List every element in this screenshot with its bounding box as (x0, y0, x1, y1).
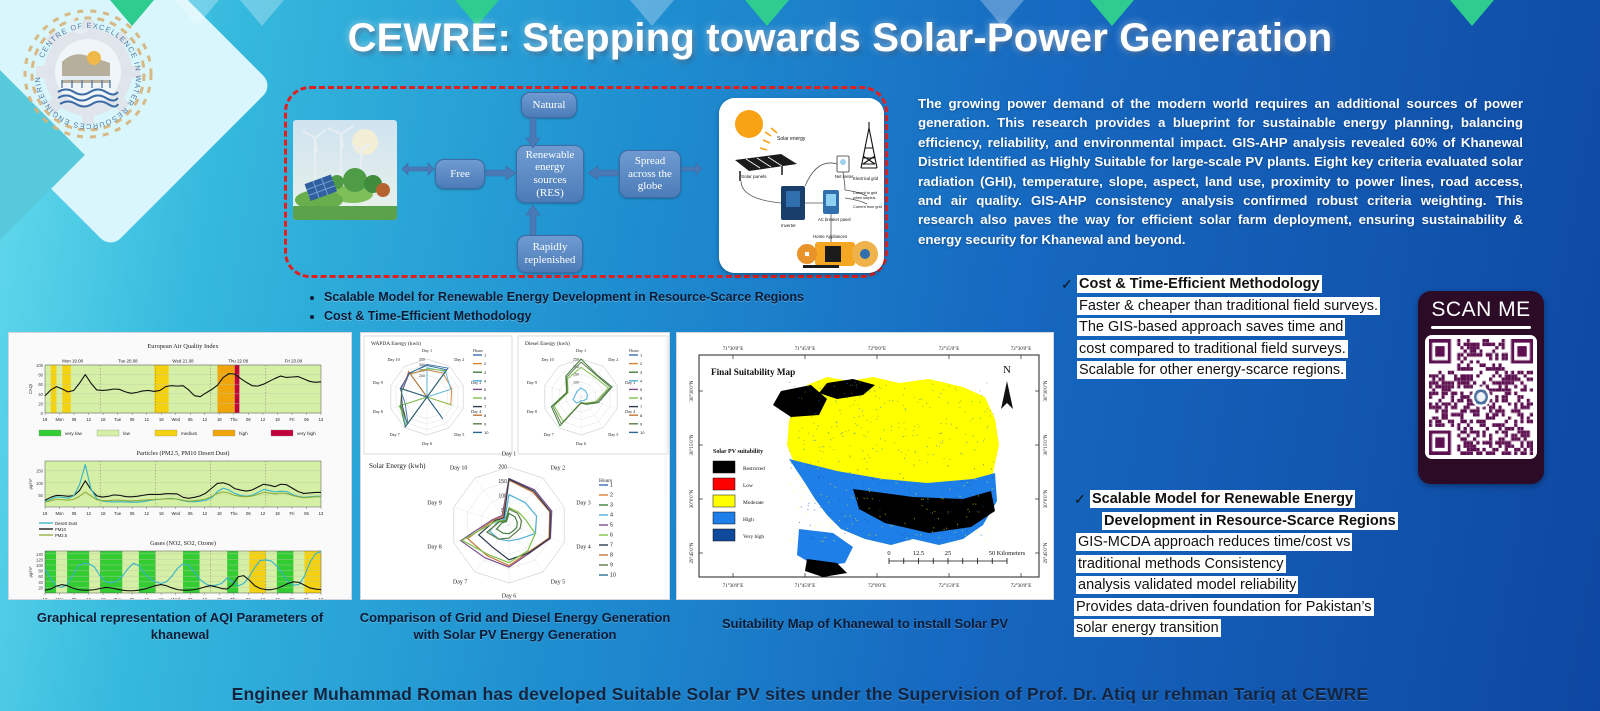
svg-text:when surplus: when surplus (853, 196, 875, 200)
svg-text:Wed: Wed (171, 511, 180, 516)
svg-text:60: 60 (38, 574, 43, 579)
svg-text:10: 10 (610, 573, 616, 579)
svg-text:200: 200 (498, 465, 507, 471)
svg-text:Day 2: Day 2 (608, 357, 618, 362)
svg-text:12: 12 (261, 597, 266, 600)
svg-text:72°15'0"E: 72°15'0"E (939, 584, 960, 589)
callout-line: Faster & cheaper than traditional field … (1077, 297, 1380, 315)
svg-text:Thu: Thu (230, 597, 238, 600)
callout-cost-time: ✓ Cost & Time-Efficient Methodology Fast… (1077, 274, 1422, 382)
svg-text:140: 140 (36, 552, 44, 557)
svg-text:18: 18 (101, 417, 106, 422)
svg-text:72°30'0"E: 72°30'0"E (1011, 584, 1032, 589)
map-svg: Final Suitability Map71°30'0"E71°30'0"E7… (677, 333, 1054, 600)
panel-energy: WAPDA Energy (kwh)200250300350Day 1Day 2… (360, 332, 670, 600)
svg-text:Wed: Wed (171, 597, 180, 600)
svg-text:Hours: Hours (629, 348, 639, 353)
svg-text:06: 06 (304, 597, 309, 600)
svg-text:2: 2 (610, 493, 613, 499)
svg-text:low: low (123, 431, 131, 436)
svg-text:12: 12 (202, 597, 207, 600)
svg-text:Mon: Mon (55, 597, 64, 600)
svg-text:N: N (1003, 364, 1011, 376)
svg-text:Day 8: Day 8 (373, 409, 383, 414)
svg-text:06: 06 (130, 417, 135, 422)
svg-text:Very high: Very high (743, 534, 764, 540)
svg-text:12.5: 12.5 (913, 550, 924, 557)
svg-text:Fri: Fri (290, 417, 295, 422)
svg-text:AC breaker panel: AC breaker panel (818, 217, 851, 222)
svg-text:0: 0 (887, 550, 890, 557)
svg-text:72°30'0"E: 72°30'0"E (1011, 347, 1032, 352)
svg-text:12: 12 (319, 511, 324, 516)
svg-text:30°0'0"N: 30°0'0"N (1044, 489, 1049, 508)
svg-text:µg/m³: µg/m³ (28, 566, 33, 577)
callout-line: Scalable for other energy-scarce regions… (1077, 361, 1346, 379)
svg-text:Electrical grid: Electrical grid (853, 176, 879, 181)
svg-text:18: 18 (217, 417, 222, 422)
callout-line: cost compared to traditional field surve… (1077, 340, 1348, 358)
svg-text:12: 12 (144, 417, 149, 422)
svg-text:Day 5: Day 5 (454, 432, 464, 437)
chevron-decor-2 (175, 0, 219, 26)
svg-text:Day 10: Day 10 (450, 465, 468, 471)
svg-text:3: 3 (610, 503, 613, 509)
svg-text:Current from grid: Current from grid (853, 205, 882, 209)
cewre-logo: CENTRE OF EXCELLENCE IN WATER RESOURCES … (18, 6, 158, 146)
svg-text:Tue: Tue (114, 417, 122, 422)
svg-text:06: 06 (72, 511, 77, 516)
caption-energy: Comparison of Grid and Diesel Energy Gen… (358, 610, 672, 644)
svg-text:Wed 21.08: Wed 21.08 (172, 359, 194, 364)
svg-text:71°45'0"E: 71°45'0"E (795, 347, 816, 352)
svg-text:Thu: Thu (230, 511, 238, 516)
svg-text:06: 06 (246, 417, 251, 422)
callout-line: analysis validated model reliability (1076, 576, 1298, 594)
svg-text:Gases (NO2, SO2, Ozone): Gases (NO2, SO2, Ozone) (150, 540, 216, 547)
svg-text:4: 4 (610, 513, 613, 519)
svg-text:Solar PV suitability: Solar PV suitability (713, 449, 763, 455)
svg-text:12: 12 (144, 511, 149, 516)
svg-text:80: 80 (38, 569, 43, 574)
svg-text:Tue: Tue (114, 511, 122, 516)
callout-heading: Scalable Model for Renewable Energy (1090, 490, 1355, 508)
svg-text:PM2.5: PM2.5 (55, 533, 68, 538)
svg-text:12: 12 (319, 597, 324, 600)
svg-text:Day 1: Day 1 (502, 452, 517, 458)
svg-text:12: 12 (144, 597, 149, 600)
svg-text:20: 20 (38, 585, 43, 590)
svg-text:Day 6: Day 6 (422, 441, 432, 446)
svg-text:very low: very low (65, 431, 83, 436)
svg-text:06: 06 (188, 511, 193, 516)
svg-text:18: 18 (43, 511, 48, 516)
svg-text:8: 8 (610, 553, 613, 559)
svg-text:12: 12 (202, 417, 207, 422)
callout-scalable-model: ✓ Scalable Model for Renewable Energy De… (1090, 489, 1450, 640)
svg-text:20: 20 (38, 401, 43, 406)
caption-text: Graphical representation of AQI Paramete… (37, 610, 323, 642)
svg-text:50: 50 (38, 493, 43, 498)
svg-text:very high: very high (297, 431, 316, 436)
svg-text:WAPDA Energy (kwh): WAPDA Energy (kwh) (371, 340, 421, 347)
svg-text:1: 1 (610, 483, 613, 489)
svg-text:Day 4: Day 4 (625, 409, 636, 414)
callout-line: The GIS-based approach saves time and (1077, 318, 1345, 336)
svg-text:Solar Energy (kwh): Solar Energy (kwh) (369, 462, 426, 470)
svg-text:06: 06 (72, 417, 77, 422)
svg-text:150: 150 (36, 469, 44, 474)
svg-text:12: 12 (86, 511, 91, 516)
svg-text:Fri: Fri (290, 511, 295, 516)
svg-text:Home Appliances: Home Appliances (813, 234, 848, 239)
scan-me-label: SCAN ME (1425, 298, 1537, 322)
abstract-text: The growing power demand of the modern w… (918, 94, 1523, 249)
svg-text:06: 06 (72, 597, 77, 600)
svg-text:medium: medium (181, 431, 198, 436)
svg-text:Day 1: Day 1 (422, 348, 432, 353)
svg-text:100: 100 (36, 363, 44, 368)
svg-text:Fri: Fri (290, 597, 295, 600)
svg-text:12: 12 (86, 597, 91, 600)
svg-text:Final Suitability Map: Final Suitability Map (711, 367, 795, 377)
svg-text:25: 25 (945, 550, 951, 557)
svg-text:Day 4: Day 4 (471, 409, 482, 414)
svg-text:Desert Dust: Desert Dust (55, 521, 78, 526)
svg-text:Wed: Wed (171, 417, 180, 422)
svg-text:18: 18 (159, 511, 164, 516)
svg-text:06: 06 (304, 511, 309, 516)
svg-text:High: High (743, 517, 754, 523)
svg-text:29°45'0"N: 29°45'0"N (1044, 542, 1049, 563)
svg-text:30°30'0"N: 30°30'0"N (1044, 380, 1049, 401)
svg-text:Tue: Tue (114, 597, 122, 600)
svg-text:Day 7: Day 7 (544, 432, 554, 437)
svg-text:200: 200 (419, 374, 425, 378)
svg-text:12: 12 (202, 511, 207, 516)
callout-line: Provides data-driven foundation for Paki… (1074, 598, 1374, 616)
svg-text:06: 06 (246, 511, 251, 516)
svg-text:30°15'0"N: 30°15'0"N (1044, 434, 1049, 455)
caption-text: Suitability Map of Khanewal to install S… (722, 616, 1008, 631)
svg-text:06: 06 (188, 597, 193, 600)
svg-text:150: 150 (498, 479, 507, 485)
svg-text:40: 40 (38, 392, 43, 397)
svg-text:Day 6: Day 6 (502, 593, 517, 599)
svg-text:18: 18 (275, 597, 280, 600)
svg-text:100: 100 (573, 380, 579, 384)
svg-text:06: 06 (246, 597, 251, 600)
svg-text:Solar energy: Solar energy (777, 136, 806, 142)
svg-text:18: 18 (275, 417, 280, 422)
svg-text:18: 18 (43, 597, 48, 600)
svg-text:12: 12 (261, 511, 266, 516)
svg-text:Day 2: Day 2 (551, 465, 566, 471)
svg-text:Mon: Mon (55, 417, 64, 422)
svg-text:Day 3: Day 3 (576, 501, 591, 507)
svg-text:Day 8: Day 8 (527, 409, 537, 414)
svg-text:71°30'0"E: 71°30'0"E (723, 347, 744, 352)
divider (1431, 326, 1531, 329)
svg-text:Solar panels: Solar panels (741, 174, 767, 179)
svg-text:18: 18 (217, 597, 222, 600)
callout-line: GIS-MCDA approach reduces time/cost vs (1076, 533, 1352, 551)
svg-text:Hours: Hours (473, 348, 483, 353)
caption-map: Suitability Map of Khanewal to install S… (676, 616, 1054, 633)
svg-text:50 Kilometers: 50 Kilometers (989, 550, 1026, 557)
svg-text:Current to grid: Current to grid (853, 191, 877, 195)
panel-map: Final Suitability Map71°30'0"E71°30'0"E7… (676, 332, 1054, 600)
svg-text:Day 9: Day 9 (527, 380, 537, 385)
svg-text:Moderate: Moderate (743, 500, 764, 506)
svg-text:Mon: Mon (55, 511, 64, 516)
callout-heading: Development in Resource-Scarce Regions (1102, 512, 1398, 530)
svg-text:30°0'0"N: 30°0'0"N (690, 489, 695, 508)
svg-text:Inverter: Inverter (781, 223, 796, 228)
svg-text:Day 2: Day 2 (454, 357, 464, 362)
panel-aqi: European Air Quality Index020406080100CA… (8, 332, 352, 600)
svg-text:80: 80 (38, 373, 43, 378)
svg-text:Fri 23.08: Fri 23.08 (285, 359, 303, 364)
svg-text:12: 12 (86, 417, 91, 422)
energy-charts-svg: WAPDA Energy (kwh)200250300350Day 1Day 2… (361, 333, 670, 600)
svg-text:5: 5 (610, 523, 613, 529)
svg-text:Thu 22.08: Thu 22.08 (228, 359, 248, 364)
svg-text:29°45'0"N: 29°45'0"N (690, 542, 695, 563)
svg-text:18: 18 (275, 511, 280, 516)
svg-text:06: 06 (304, 417, 309, 422)
svg-text:71°30'0"E: 71°30'0"E (723, 584, 744, 589)
svg-text:µg/m³: µg/m³ (28, 478, 33, 489)
svg-text:30°15'0"N: 30°15'0"N (690, 434, 695, 455)
qr-code[interactable] (1425, 335, 1537, 459)
svg-text:Day 10: Day 10 (388, 357, 400, 362)
svg-text:Day 10: Day 10 (542, 357, 554, 362)
scan-me-card[interactable]: SCAN ME (1418, 291, 1544, 484)
svg-text:72°0'0"E: 72°0'0"E (868, 347, 886, 352)
chevron-decor-9 (1450, 0, 1494, 26)
svg-text:60: 60 (38, 382, 43, 387)
list-item: Cost & Time-Efficient Methodology (324, 307, 912, 326)
svg-text:350: 350 (419, 358, 425, 362)
callout-line: traditional methods Consistency (1076, 555, 1286, 573)
svg-text:Day 8: Day 8 (427, 544, 442, 550)
callout-heading: Cost & Time-Efficient Methodology (1077, 275, 1322, 293)
svg-text:Particles (PM2.5, PM10 Desert: Particles (PM2.5, PM10 Desert Dust) (137, 450, 230, 457)
svg-text:CAQI: CAQI (28, 384, 33, 394)
aqi-charts-svg: European Air Quality Index020406080100CA… (9, 333, 352, 600)
svg-text:Day 9: Day 9 (373, 380, 383, 385)
svg-text:30°30'0"N: 30°30'0"N (690, 380, 695, 401)
svg-text:06: 06 (188, 417, 193, 422)
svg-text:Net meter: Net meter (835, 174, 854, 179)
key-points-list: Scalable Model for Renewable Energy Deve… (312, 288, 912, 326)
svg-text:06: 06 (130, 597, 135, 600)
svg-text:Day 5: Day 5 (551, 580, 566, 586)
svg-text:18: 18 (159, 597, 164, 600)
footer-banner: Engineer Muhammad Roman has developed Su… (0, 684, 1600, 705)
svg-text:71°45'0"E: 71°45'0"E (795, 584, 816, 589)
svg-text:Day 7: Day 7 (453, 580, 468, 586)
svg-text:Low: Low (743, 483, 753, 489)
svg-text:100: 100 (36, 563, 44, 568)
svg-text:10: 10 (484, 430, 489, 435)
svg-text:Diesel Energy (kwh): Diesel Energy (kwh) (525, 340, 570, 347)
svg-text:Day 7: Day 7 (390, 432, 400, 437)
svg-text:18: 18 (101, 597, 106, 600)
svg-text:120: 120 (36, 557, 44, 562)
svg-text:Day 4: Day 4 (576, 544, 591, 550)
svg-text:40: 40 (38, 580, 43, 585)
list-item: Scalable Model for Renewable Energy Deve… (324, 288, 912, 307)
check-icon: ✓ (1061, 275, 1073, 295)
svg-text:PM10: PM10 (55, 527, 67, 532)
svg-text:12: 12 (261, 417, 266, 422)
svg-text:72°15'0"E: 72°15'0"E (939, 347, 960, 352)
svg-text:06: 06 (130, 511, 135, 516)
check-icon: ✓ (1074, 490, 1086, 510)
svg-text:7: 7 (610, 543, 613, 549)
svg-text:6: 6 (610, 533, 613, 539)
svg-text:Day 9: Day 9 (427, 501, 442, 507)
svg-text:Mon 19.08: Mon 19.08 (62, 359, 83, 364)
svg-text:European Air Quality Index: European Air Quality Index (147, 343, 219, 350)
svg-text:Restricted: Restricted (743, 466, 765, 472)
svg-text:Day 5: Day 5 (608, 432, 618, 437)
svg-text:18: 18 (101, 511, 106, 516)
svg-text:9: 9 (610, 563, 613, 569)
svg-text:Tue 20.08: Tue 20.08 (118, 359, 138, 364)
svg-text:12: 12 (319, 417, 324, 422)
page-title: CEWRE: Stepping towards Solar-Power Gene… (260, 16, 1420, 61)
svg-text:18: 18 (159, 417, 164, 422)
svg-text:250: 250 (573, 358, 579, 362)
caption-text: Comparison of Grid and Diesel Energy Gen… (360, 610, 671, 642)
svg-text:100: 100 (36, 481, 44, 486)
svg-text:Day 1: Day 1 (576, 348, 586, 353)
solar-system-diagram: Solar energy Solar panels Inverter AC br… (719, 98, 884, 273)
caption-aqi: Graphical representation of AQI Paramete… (8, 610, 352, 644)
svg-text:Day 6: Day 6 (576, 441, 586, 446)
svg-text:high: high (239, 431, 248, 436)
svg-text:Thu: Thu (230, 417, 238, 422)
callout-line: solar energy transition (1074, 619, 1221, 637)
svg-text:10: 10 (640, 430, 645, 435)
svg-text:18: 18 (43, 417, 48, 422)
svg-text:18: 18 (217, 511, 222, 516)
svg-text:72°0'0"E: 72°0'0"E (868, 584, 886, 589)
